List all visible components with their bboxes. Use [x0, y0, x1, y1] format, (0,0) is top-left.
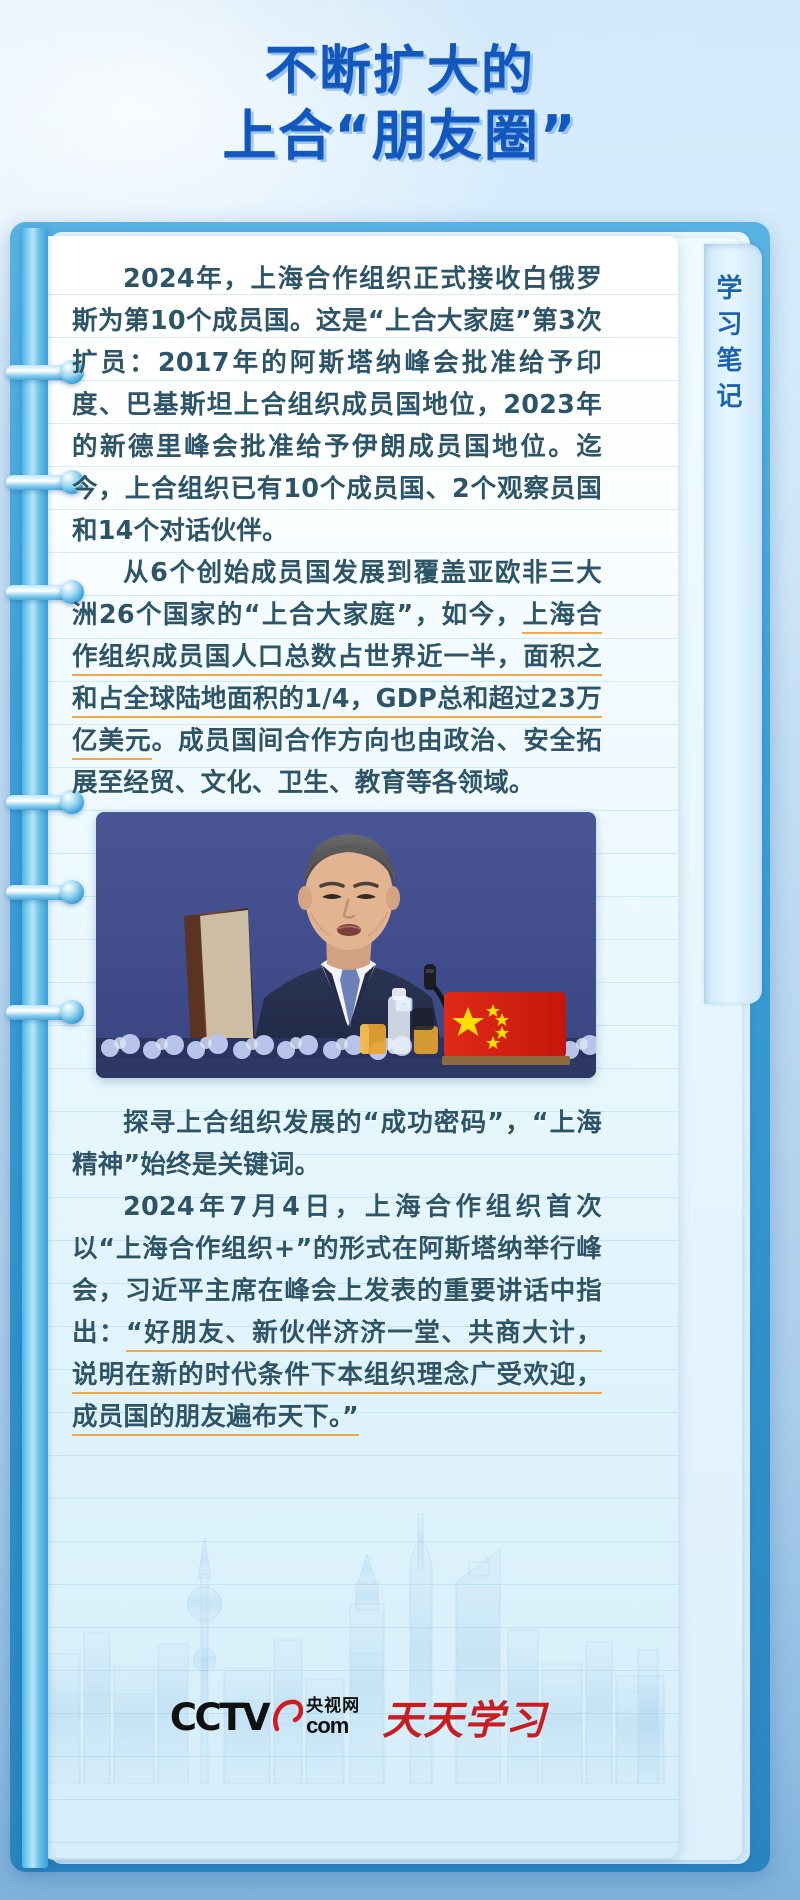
paragraph-4: 2024年7月4日，上海合作组织首次以“上海合作组织+”的形式在阿斯塔纳举行峰会… [72, 1186, 602, 1438]
title-line-1: 不断扩大的 [0, 40, 800, 103]
index-tab[interactable]: 学习笔记 [704, 244, 762, 1004]
cctv-logo[interactable]: CCTV 央视网 com [170, 1697, 360, 1737]
title-line-2: 上合“朋友圈” [0, 103, 800, 169]
binding-ring-6 [6, 1000, 84, 1024]
paragraph-2: 从6个创始成员国发展到覆盖亚欧非三大洲26个国家的“上合大家庭”，如今，上海合作… [72, 552, 602, 804]
leader-photo: 合 [96, 812, 596, 1078]
leader-photo-illustration: 合 [96, 812, 596, 1078]
china-flag-nameplate [442, 992, 570, 1065]
article-body: 2024年，上海合作组织正式接收白俄罗斯为第10个成员国。这是“上合大家庭”第3… [72, 258, 602, 804]
cctv-text-block: 央视网 com [306, 1697, 360, 1737]
paragraph-3: 探寻上合组织发展的“成功密码”，“上海精神”始终是关键词。 [72, 1102, 602, 1186]
page-title: 不断扩大的 上合“朋友圈” [0, 40, 800, 169]
cctv-swoosh-icon [273, 1698, 303, 1736]
binding-ring-5 [6, 880, 84, 904]
paragraph-4-highlight: “好朋友、新伙伴济济一堂、共商大计，说明在新的时代条件下本组织理念广受欢迎，成员… [72, 1318, 602, 1436]
footer-logos: CCTV 央视网 com 天天学习 [38, 1672, 678, 1762]
paragraph-1: 2024年，上海合作组织正式接收白俄罗斯为第10个成员国。这是“上合大家庭”第3… [72, 258, 602, 552]
cctv-wordmark: CCTV [170, 1699, 268, 1736]
paragraph-2-tail: 。成员国间合作方向也由政治、安全拓展至经贸、文化、卫生、教育等各领域。 [72, 726, 602, 798]
cctv-domain: com [306, 1715, 360, 1737]
cctv-chinese-name: 央视网 [306, 1697, 360, 1714]
article-body-lower: 探寻上合组织发展的“成功密码”，“上海精神”始终是关键词。 2024年7月4日，… [72, 1102, 602, 1438]
tiantian-xuexi-brand: 天天学习 [382, 1688, 546, 1746]
index-tab-label: 学习笔记 [709, 274, 746, 418]
